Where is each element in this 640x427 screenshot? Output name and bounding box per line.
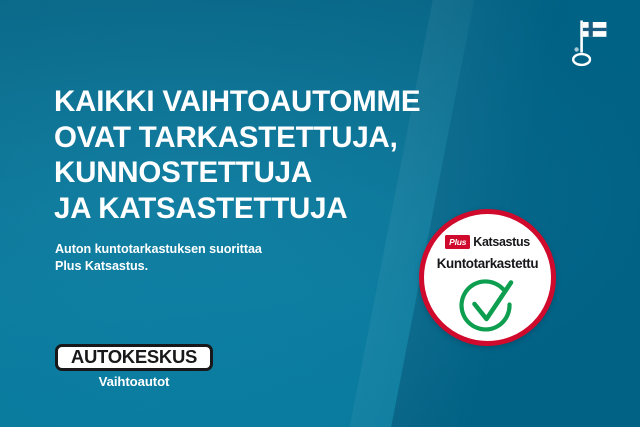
autokeskus-logo: AUTOKESKUS xyxy=(55,344,213,371)
headline-line-1: KAIKKI VAIHTOAUTOMME xyxy=(54,84,484,120)
badge-title: Kuntotarkastettu xyxy=(424,256,551,271)
headline-line-4: JA KATSASTETTUJA xyxy=(54,191,484,227)
logo-tagline: Vaihtoautot xyxy=(55,374,213,389)
subtitle: Auton kuntotarkastuksen suorittaa Plus K… xyxy=(55,241,355,275)
subtitle-line-1: Auton kuntotarkastuksen suorittaa xyxy=(55,241,355,258)
katsastus-wordmark: Katsastus xyxy=(473,235,530,249)
subtitle-line-2: Plus Katsastus. xyxy=(55,258,355,275)
promotional-banner: KAIKKI VAIHTOAUTOMME OVAT TARKASTETTUJA,… xyxy=(0,0,640,427)
headline: KAIKKI VAIHTOAUTOMME OVAT TARKASTETTUJA,… xyxy=(54,84,484,226)
plus-chip: Plus xyxy=(445,235,470,249)
headline-line-3: KUNNOSTETTUJA xyxy=(54,155,484,191)
autokeskus-wordmark: AUTOKESKUS xyxy=(71,348,197,367)
plus-katsastus-logo: Plus Katsastus xyxy=(424,235,551,249)
avainlippu-key-flag-icon xyxy=(568,18,616,68)
kuntotarkastettu-badge: Plus Katsastus Kuntotarkastettu xyxy=(419,209,556,346)
headline-line-2: OVAT TARKASTETTUJA, xyxy=(54,120,484,156)
green-check-circle-icon xyxy=(457,276,519,336)
